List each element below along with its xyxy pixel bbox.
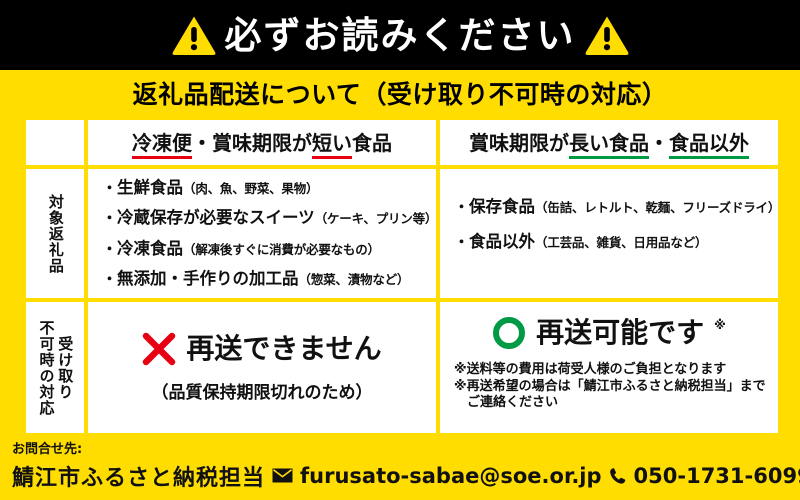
bullet-dot-icon: ・ xyxy=(454,233,469,251)
page-title: 必ずお読みください xyxy=(225,17,576,54)
list-item-main: 冷蔵保存が必要なスイーツ xyxy=(117,208,315,227)
list-item-main: 無添加・手作りの加工品 xyxy=(117,269,299,288)
cross-mark-icon xyxy=(142,332,176,366)
column-header-short-shelf-life: 冷凍便・賞味期限が短い食品 xyxy=(88,120,436,165)
notice-page: 必ずお読みください 返礼品配送について（受け取り不可時の対応） 冷凍便・賞味期限… xyxy=(0,0,800,500)
action-cell-no-resend: 再送できません （品質保持期限切れのため） xyxy=(88,302,436,433)
list-item: ・生鮮食品（肉、魚、野菜、果物） xyxy=(102,180,430,197)
column-header-part: 長い食品 xyxy=(569,131,649,159)
column-header-part: 賞味期限が xyxy=(469,131,569,155)
warning-triangle-icon xyxy=(584,14,630,56)
list-item: ・食品以外（工芸品、雑貨、日用品など） xyxy=(454,234,772,251)
list-item: ・無添加・手作りの加工品（惣菜、漬物など） xyxy=(102,271,430,288)
column-header-part: ・ xyxy=(649,131,669,155)
column-header-part: ・賞味期限が xyxy=(192,131,312,155)
warning-triangle-icon xyxy=(171,14,217,56)
list-item-main: 冷凍食品 xyxy=(117,239,183,258)
table-row: 受け取り 不可時の対応 再送できません （品質保持期限切れのため xyxy=(26,302,778,433)
column-header-part: 短い xyxy=(312,131,352,159)
subtitle-band: 返礼品配送について（受け取り不可時の対応） xyxy=(0,70,800,116)
footer-contact: お問合せ先: 鯖江市ふるさと納税担当 furusato-sabae@soe.or… xyxy=(0,437,800,500)
column-header-long-shelf-life: 賞味期限が長い食品・食品以外 xyxy=(440,120,778,165)
list-item-sub: （ケーキ、プリン等） xyxy=(315,211,438,226)
note-line-text: ご連絡ください xyxy=(467,395,558,410)
row-label-text: 不可時の対応 xyxy=(37,320,55,416)
list-item-sub: （工芸品、雑貨、日用品など） xyxy=(535,235,707,250)
action-notes: ※送料等の費用は荷受人様のご負担となります ※再送希望の場合は「鯖江市ふるさと納… xyxy=(440,362,766,412)
subtitle-text: 返礼品配送について（受け取り不可時の対応） xyxy=(133,75,668,111)
mail-icon xyxy=(272,468,293,483)
action-text: 再送できません xyxy=(186,335,381,363)
list-item-sub: （解凍後すぐに消費が必要なもの） xyxy=(183,242,380,257)
list-item-sub: （缶詰、レトルト、乾麺、フリーズドライ） xyxy=(535,200,780,215)
bullet-dot-icon: ・ xyxy=(102,270,117,288)
list-item-sub: （肉、魚、野菜、果物） xyxy=(183,181,318,196)
header-bar: 必ずお読みください xyxy=(0,0,800,70)
contact-organization: 鯖江市ふるさと納税担当 xyxy=(12,460,265,492)
column-header-part: 冷凍便 xyxy=(132,131,192,159)
bullet-dot-icon: ・ xyxy=(102,209,117,227)
header-corner-cell xyxy=(26,120,84,165)
list-item-main: 食品以外 xyxy=(469,232,535,251)
contact-label: お問合せ先: xyxy=(12,442,800,458)
note-line-continued: ご連絡ください xyxy=(454,395,766,412)
table-header-row: 冷凍便・賞味期限が短い食品 賞味期限が長い食品・食品以外 xyxy=(26,120,778,165)
action-text: 再送可能です xyxy=(536,319,704,347)
target-items-short-shelf-life: ・生鮮食品（肉、魚、野菜、果物） ・冷蔵保存が必要なスイーツ（ケーキ、プリン等）… xyxy=(88,169,436,298)
bullet-dot-icon: ・ xyxy=(102,179,117,197)
phone-icon xyxy=(609,467,627,485)
asterisk-superscript: ※ xyxy=(714,318,726,332)
bullet-dot-icon: ・ xyxy=(454,198,469,216)
list-item-sub: （惣菜、漬物など） xyxy=(299,272,410,287)
list-item-main: 生鮮食品 xyxy=(117,178,183,197)
comparison-table: 冷凍便・賞味期限が短い食品 賞味期限が長い食品・食品以外 対象返礼品 xyxy=(22,116,778,437)
list-item-main: 保存食品 xyxy=(469,197,535,216)
list-item: ・保存食品（缶詰、レトルト、乾麺、フリーズドライ） xyxy=(454,199,772,216)
contact-phone[interactable]: 050-1731-6099 xyxy=(634,464,800,488)
table-row: 対象返礼品 ・生鮮食品（肉、魚、野菜、果物） ・冷蔵保存が必要なスイーツ（ケーキ… xyxy=(26,169,778,298)
row-label-undeliverable-response: 受け取り 不可時の対応 xyxy=(26,302,84,433)
circle-mark-icon xyxy=(492,316,526,350)
row-label-text: 受け取り xyxy=(56,336,74,400)
target-items-long-shelf-life: ・保存食品（缶詰、レトルト、乾麺、フリーズドライ） ・食品以外（工芸品、雑貨、日… xyxy=(440,169,778,298)
row-label-target-items: 対象返礼品 xyxy=(26,169,84,298)
row-label-text: 対象返礼品 xyxy=(46,194,64,274)
note-line: ※送料等の費用は荷受人様のご負担となります xyxy=(454,362,766,379)
contact-email[interactable]: furusato-sabae@soe.or.jp xyxy=(300,464,602,488)
action-cell-resend-ok: 再送可能です ※ ※送料等の費用は荷受人様のご負担となります ※再送希望の場合は… xyxy=(440,302,778,433)
column-header-part: 食品 xyxy=(352,131,392,155)
note-line: ※再送希望の場合は「鯖江市ふるさと納税担当」まで xyxy=(454,379,766,396)
list-item: ・冷凍食品（解凍後すぐに消費が必要なもの） xyxy=(102,241,430,258)
column-header-part: 食品以外 xyxy=(669,131,749,159)
list-item: ・冷蔵保存が必要なスイーツ（ケーキ、プリン等） xyxy=(102,210,430,227)
action-note: （品質保持期限切れのため） xyxy=(152,378,373,403)
bullet-dot-icon: ・ xyxy=(102,240,117,258)
